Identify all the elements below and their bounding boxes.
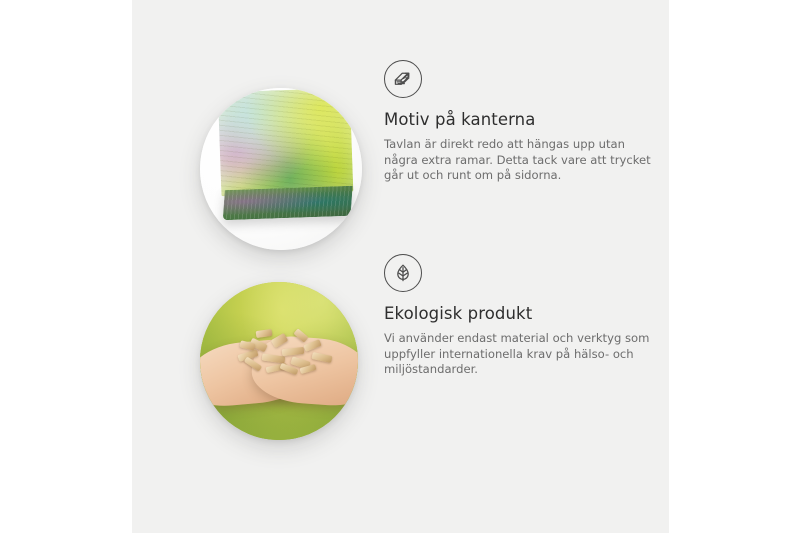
feature-body-edges: Tavlan är direkt redo att hängas upp uta…: [384, 137, 652, 184]
leaf-icon: [384, 254, 422, 292]
canvas-front-face: [218, 88, 354, 196]
canvas-wrapped-side: [223, 186, 353, 221]
content-panel: Motiv på kanterna Tavlan är direkt redo …: [132, 0, 669, 533]
canvas-artwork: [218, 88, 354, 220]
feature-text-eco: Ekologisk produkt Vi använder endast mat…: [384, 254, 662, 378]
wood-chips-pile: [236, 328, 332, 378]
wood-chips-photo: [200, 282, 358, 440]
feature-title-eco: Ekologisk produkt: [384, 304, 662, 324]
feature-body-eco: Vi använder endast material och verktyg …: [384, 331, 652, 378]
canvas-wrapped-edges-icon: [384, 60, 422, 98]
canvas-print-photo: [200, 88, 362, 250]
feature-text-edges: Motiv på kanterna Tavlan är direkt redo …: [384, 60, 662, 184]
feature-block-eco: Ekologisk produkt Vi använder endast mat…: [132, 254, 669, 464]
feature-title-edges: Motiv på kanterna: [384, 110, 662, 130]
feature-block-edges: Motiv på kanterna Tavlan är direkt redo …: [132, 60, 669, 270]
product-feature-banner: Motiv på kanterna Tavlan är direkt redo …: [0, 0, 800, 533]
